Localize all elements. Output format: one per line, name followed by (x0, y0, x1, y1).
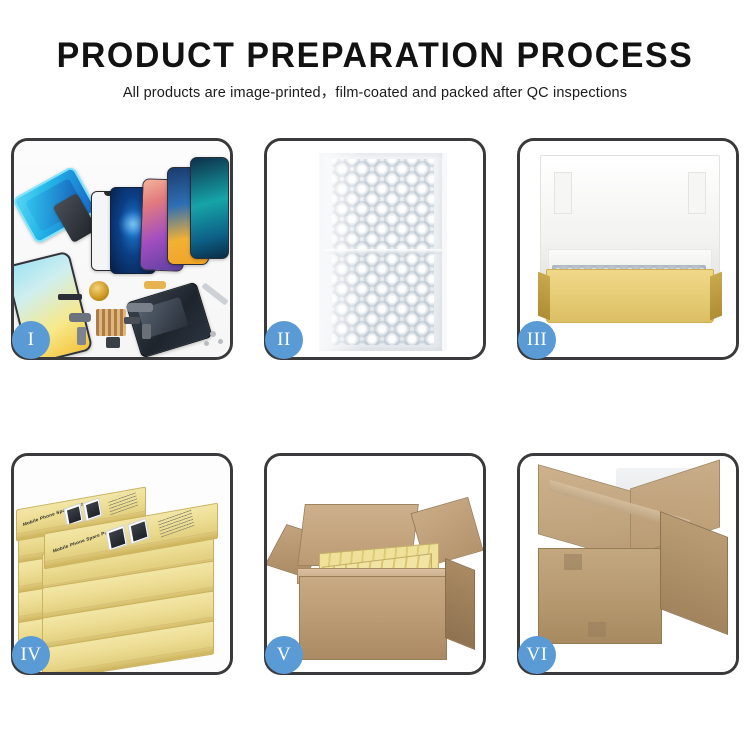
bubble-wrap-pouch-icon (319, 153, 447, 351)
carton-tape-tab-lower (588, 622, 606, 637)
lid-tab-left (554, 172, 572, 214)
carton-side-face (660, 511, 728, 635)
step-image-products-and-spare-parts (14, 141, 230, 357)
step-badge-1: I (12, 321, 50, 359)
step-panel-6[interactable]: VI (517, 453, 739, 675)
step-badge-4: IV (12, 636, 50, 674)
camera-flex-part-icon (127, 303, 153, 312)
page-title: PRODUCT PREPARATION PROCESS (11, 0, 739, 76)
box-side-left (538, 272, 550, 321)
screw-part-icon (218, 339, 223, 344)
speaker-coil-part-icon (89, 281, 109, 301)
carton-side-face (445, 558, 475, 650)
step-panel-2[interactable]: II (264, 138, 486, 360)
box-spec-lines (158, 509, 195, 538)
step-image-inner-mailer-box (520, 141, 736, 357)
lid-tab-right (688, 172, 706, 214)
product-preparation-process-page: PRODUCT PREPARATION PROCESS All products… (0, 0, 750, 750)
box-stack: Mobile Phone Spare Parts Mobile Phone Sp… (14, 456, 230, 672)
step-panel-5[interactable]: V (264, 453, 486, 675)
screw-part-icon (210, 331, 216, 337)
connector-board-part-icon (96, 309, 126, 336)
process-steps-grid: I II (11, 138, 739, 675)
box-thumbnail (127, 518, 149, 545)
carton-front-face (299, 576, 447, 660)
step-panel-3[interactable]: III (517, 138, 739, 360)
button-flex-part-icon (124, 317, 140, 324)
step-panel-4[interactable]: Mobile Phone Spare Parts Mobile Phone Sp… (11, 453, 233, 675)
earpiece-part-icon (58, 294, 82, 300)
step-badge-5: V (265, 636, 303, 674)
box-side-right (710, 272, 722, 321)
gold-flex-part-icon (144, 281, 166, 289)
step-image-stacked-retail-boxes: Mobile Phone Spare Parts Mobile Phone Sp… (14, 456, 230, 672)
step-badge-3: III (518, 321, 556, 359)
flex-cable-part-icon (69, 313, 91, 322)
tweezers-tool-icon (201, 282, 228, 305)
chip-part-icon (106, 337, 120, 348)
page-subtitle: All products are image-printed，film-coat… (0, 76, 750, 102)
battery-connector-part-icon (142, 324, 151, 339)
pouch-gloss-highlight (324, 153, 364, 351)
carton-tape-tab-upper (564, 554, 582, 570)
page-header: PRODUCT PREPARATION PROCESS All products… (0, 0, 750, 102)
step-badge-2: II (265, 321, 303, 359)
phone-teal-display-icon (190, 157, 229, 259)
step-image-open-shipping-carton (267, 456, 483, 672)
mailer-box-base-icon (546, 269, 714, 323)
charging-port-part-icon (77, 327, 86, 345)
step-badge-6: VI (518, 636, 556, 674)
screw-part-icon (204, 341, 209, 346)
step-image-bubble-wrap-pouch (267, 141, 483, 357)
step-image-sealed-shipping-carton (520, 456, 736, 672)
step-panel-1[interactable]: I (11, 138, 233, 360)
box-spec-lines (108, 490, 138, 515)
